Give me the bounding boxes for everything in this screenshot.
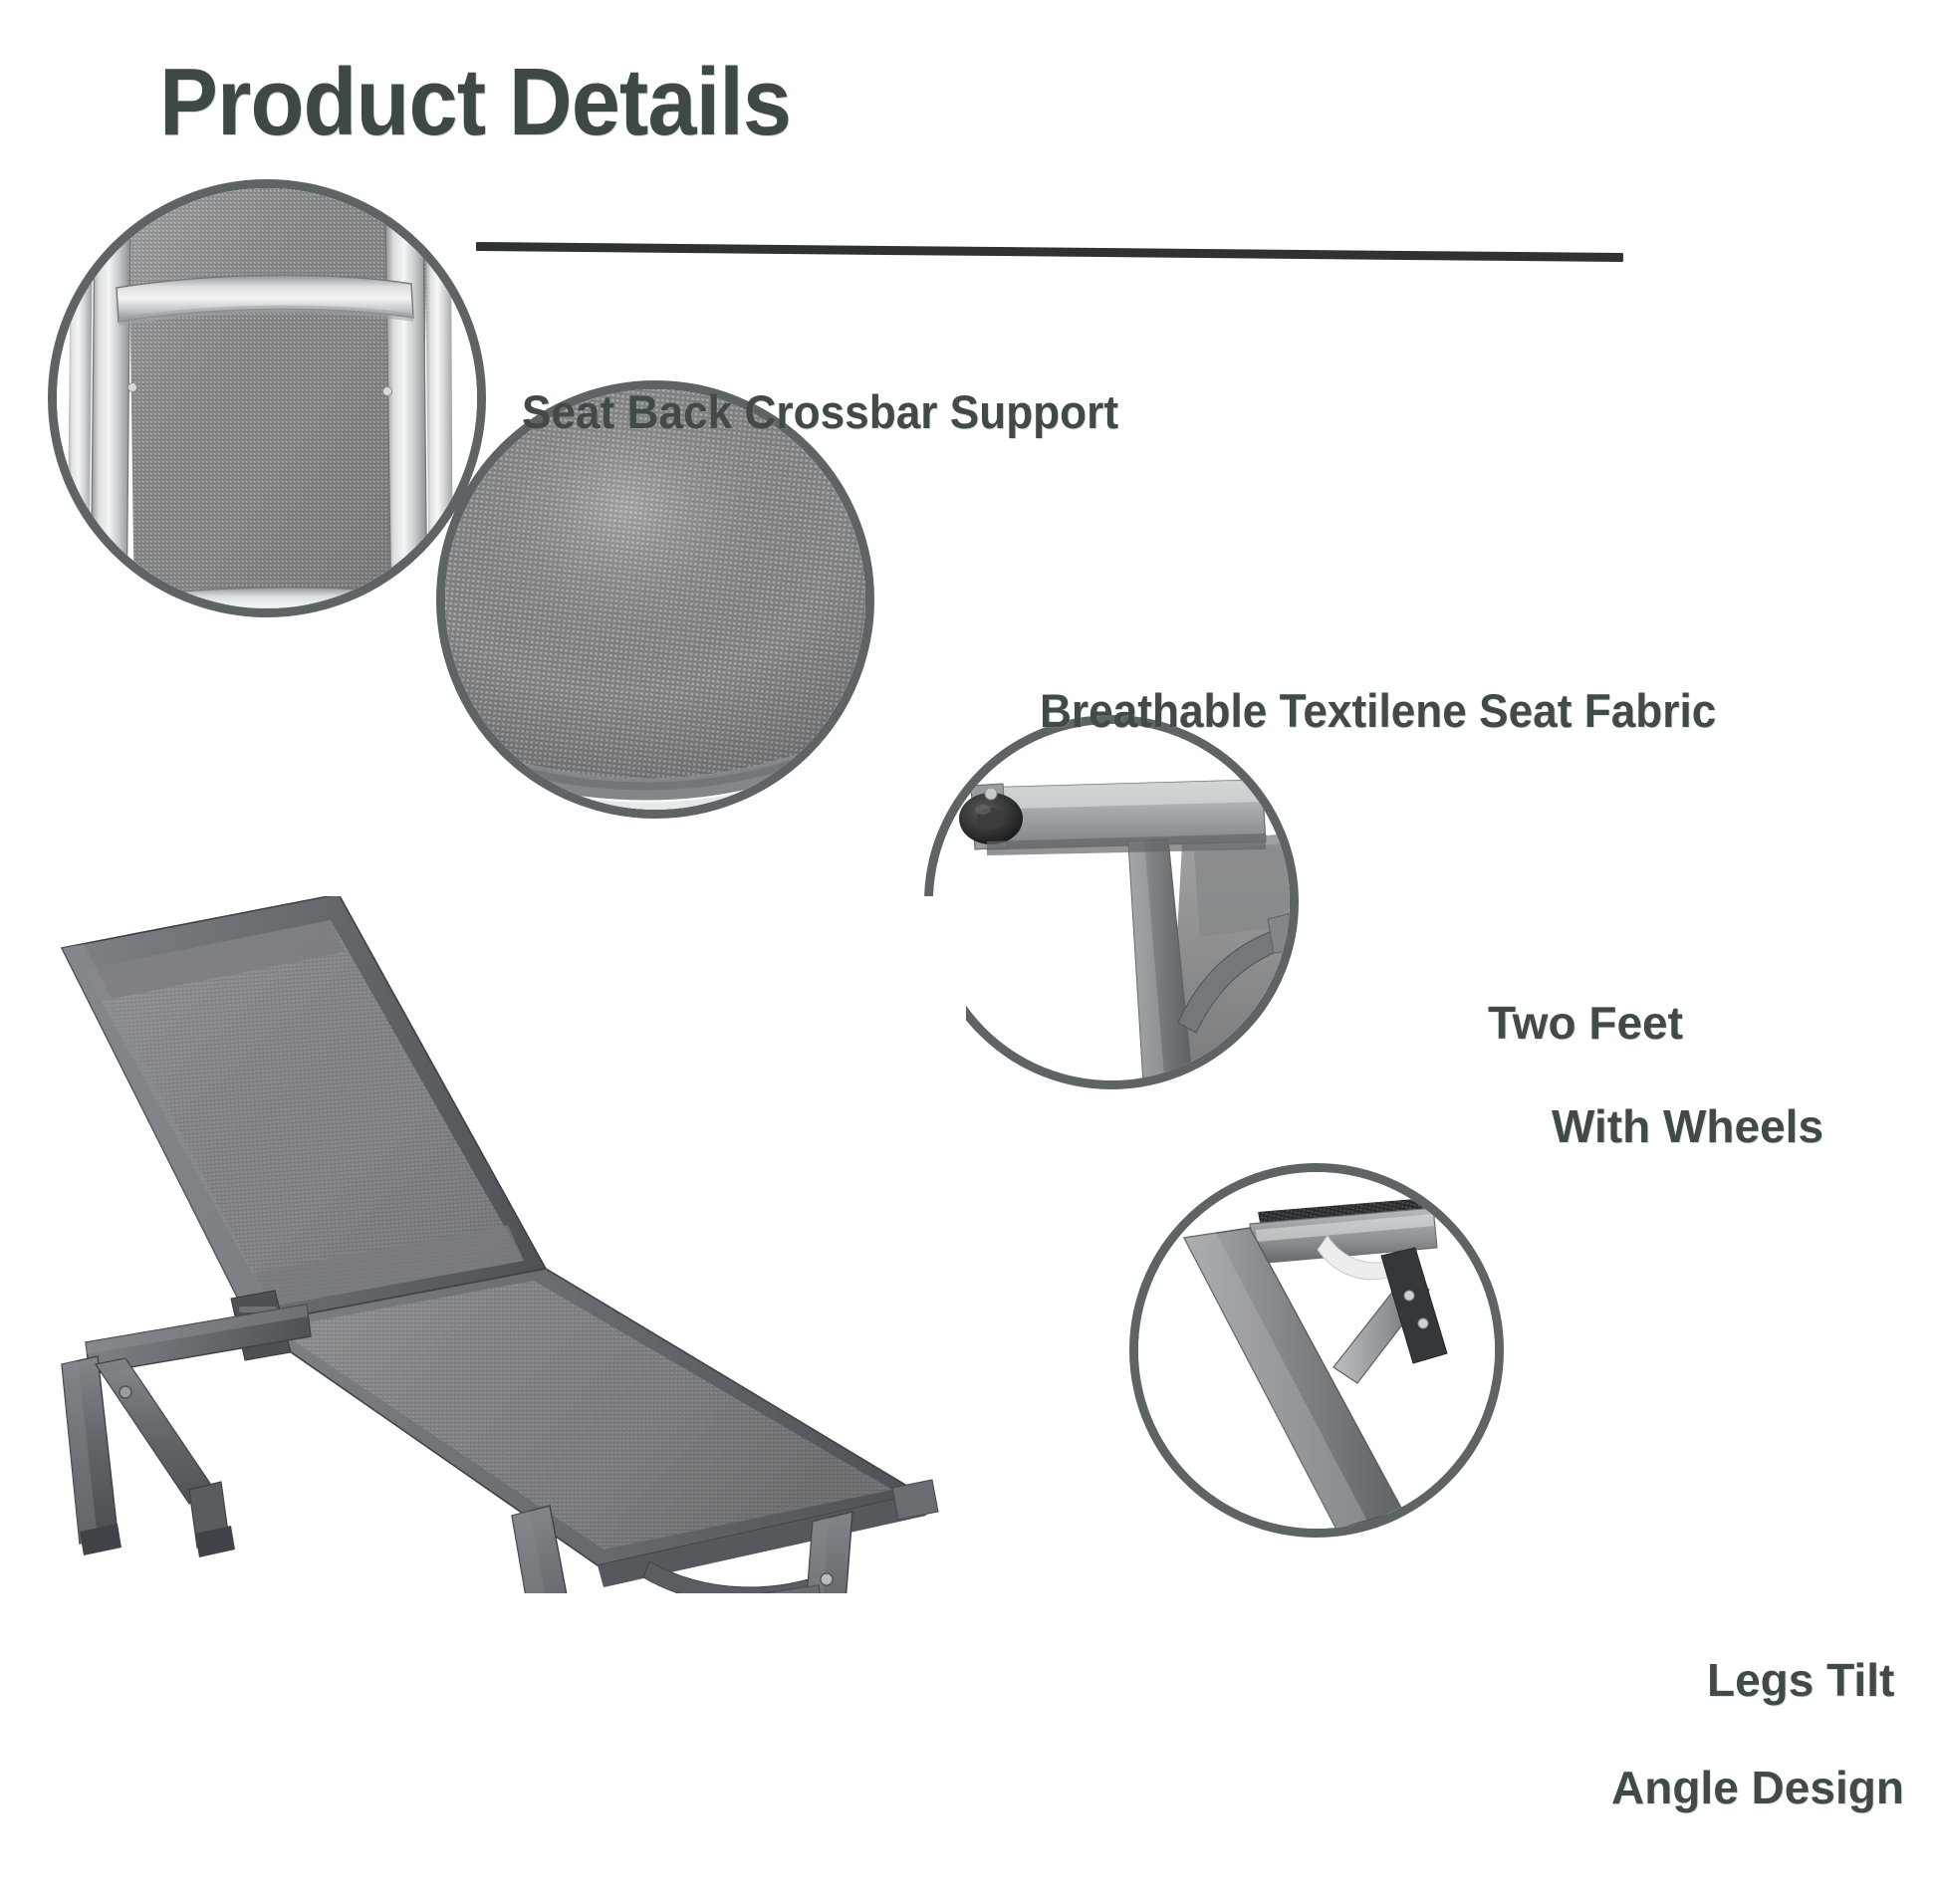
callout-label-crossbar: Seat Back Crossbar Support	[522, 384, 1118, 439]
callout-label-wheels-line2: With Wheels	[1552, 1099, 1823, 1153]
callout-circle-fabric	[436, 380, 874, 819]
product-chaise-lounge-image	[40, 896, 966, 1593]
callout-label-fabric: Breathable Textilene Seat Fabric	[1040, 683, 1716, 738]
callout-label-wheels-line1: Two Feet	[1488, 996, 1683, 1050]
callout-label-legs-line2: Angle Design	[1611, 1761, 1904, 1814]
seat-back-crossbar-closeup	[57, 188, 477, 608]
callout-label-legs-line1: Legs Tilt	[1707, 1653, 1894, 1707]
callout-circle-legs	[1129, 1163, 1504, 1538]
callout-circle-wheels	[924, 715, 1299, 1089]
tilted-leg-closeup	[1138, 1172, 1495, 1529]
page-title: Product Details	[159, 48, 791, 157]
title-divider	[476, 242, 1623, 262]
infographic-canvas: Product Details	[0, 0, 1938, 1904]
textilene-fabric-closeup	[445, 389, 865, 810]
wheel-foot-closeup	[933, 724, 1290, 1080]
callout-circle-crossbar	[48, 179, 486, 617]
